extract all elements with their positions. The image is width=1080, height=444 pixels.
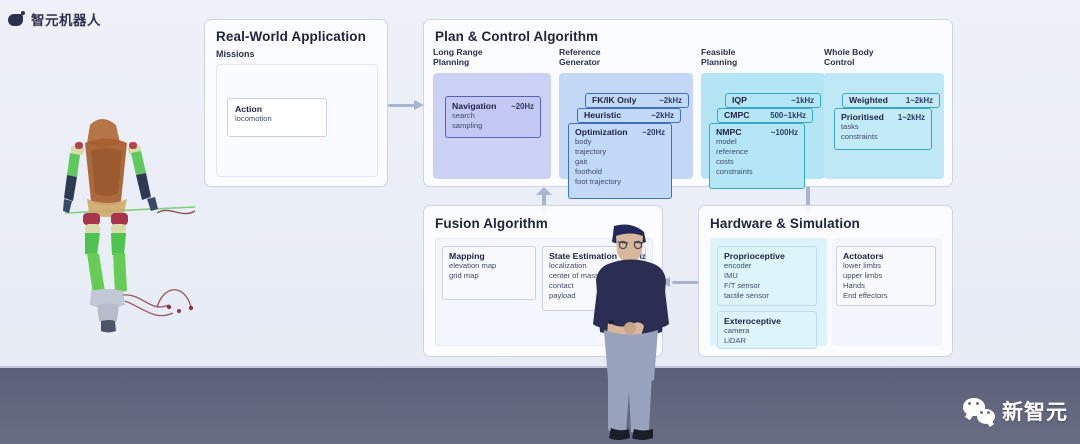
card-fk-ik-only-hz: ~2kHz bbox=[659, 96, 682, 105]
card-exteroceptive-item-0: camera bbox=[724, 326, 810, 336]
card-cmpc-name: CMPC bbox=[724, 110, 750, 120]
card-optimization-item-1: trajectory bbox=[575, 147, 665, 157]
card-heuristic-name: Heuristic bbox=[584, 110, 621, 120]
card-heuristic-hz: ~2kHz bbox=[651, 111, 674, 120]
card-optimization-item-2: gait bbox=[575, 157, 665, 167]
card-proprioceptive[interactable]: Proprioceptive encoder IMU F/T sensor ta… bbox=[717, 246, 817, 306]
panel-title-real-world-application: Real-World Application bbox=[216, 29, 366, 44]
card-optimization-item-0: body bbox=[575, 137, 665, 147]
column-label-reference-generator: Reference Generator bbox=[559, 47, 695, 67]
column-feasible-planning: Feasible Planning IQP ~1kHz CMPC 500~1kH… bbox=[701, 47, 827, 67]
card-weighted[interactable]: Weighted 1~2kHz bbox=[842, 93, 940, 108]
card-actoators-item-2: Hands bbox=[843, 281, 929, 291]
card-actoators-item-0: lower limbs bbox=[843, 261, 929, 271]
card-weighted-hz: 1~2kHz bbox=[906, 96, 933, 105]
card-prioritised-item-1: constraints bbox=[841, 132, 925, 142]
card-exteroceptive-item-1: LiDAR bbox=[724, 336, 810, 346]
card-proprioceptive-item-0: encoder bbox=[724, 261, 810, 271]
card-heuristic[interactable]: Heuristic ~2kHz bbox=[577, 108, 681, 123]
card-iqp[interactable]: IQP ~1kHz bbox=[725, 93, 821, 108]
card-proprioceptive-item-3: tactile sensor bbox=[724, 291, 810, 301]
panel-real-world-application: Real-World Application Missions Action l… bbox=[204, 19, 388, 187]
card-nmpc-item-2: costs bbox=[716, 157, 798, 167]
card-actoators-name: Actoators bbox=[843, 251, 884, 261]
card-cmpc-hz: 500~1kHz bbox=[770, 111, 806, 120]
card-prioritised[interactable]: Prioritised 1~2kHz tasks constraints bbox=[834, 108, 932, 150]
card-optimization-name: Optimization bbox=[575, 127, 628, 137]
card-action[interactable]: Action locomotion bbox=[227, 98, 327, 137]
card-proprioceptive-item-1: IMU bbox=[724, 271, 810, 281]
card-mapping-item-1: grid map bbox=[449, 271, 529, 281]
column-label-feasible-planning: Feasible Planning bbox=[701, 47, 827, 67]
card-action-item: locomotion bbox=[235, 114, 319, 124]
card-nmpc-item-3: constraints bbox=[716, 167, 798, 177]
card-mapping[interactable]: Mapping elevation map grid map bbox=[442, 246, 536, 300]
card-proprioceptive-name: Proprioceptive bbox=[724, 251, 785, 261]
card-navigation-hz: ~20Hz bbox=[511, 102, 534, 111]
card-nmpc-item-1: reference bbox=[716, 147, 798, 157]
panel-title-plan-and-control-algorithm: Plan & Control Algorithm bbox=[435, 29, 598, 44]
card-fk-ik-only-name: FK/IK Only bbox=[592, 95, 636, 105]
sub-label-missions: Missions bbox=[216, 49, 255, 60]
panel-title-fusion-algorithm: Fusion Algorithm bbox=[435, 216, 548, 231]
column-long-range-planning: Long Range Planning Navigation ~20Hz sea… bbox=[433, 47, 553, 67]
card-proprioceptive-item-2: F/T sensor bbox=[724, 281, 810, 291]
card-optimization-hz: ~20Hz bbox=[642, 128, 665, 137]
card-action-name: Action bbox=[235, 104, 262, 114]
card-nmpc-item-0: model bbox=[716, 137, 798, 147]
card-optimization-item-3: foothold bbox=[575, 167, 665, 177]
card-nmpc[interactable]: NMPC ~100Hz model reference costs constr… bbox=[709, 123, 805, 189]
card-navigation-item-1: sampling bbox=[452, 121, 534, 131]
card-fk-ik-only[interactable]: FK/IK Only ~2kHz bbox=[585, 93, 689, 108]
column-reference-generator: Reference Generator FK/IK Only ~2kHz Heu… bbox=[559, 47, 695, 67]
card-prioritised-hz: 1~2kHz bbox=[898, 113, 925, 122]
card-nmpc-hz: ~100Hz bbox=[771, 128, 798, 137]
stage-floor bbox=[0, 368, 1080, 444]
card-iqp-hz: ~1kHz bbox=[791, 96, 814, 105]
card-exteroceptive-name: Exteroceptive bbox=[724, 316, 781, 326]
card-weighted-name: Weighted bbox=[849, 95, 888, 105]
card-optimization[interactable]: Optimization ~20Hz body trajectory gait … bbox=[568, 123, 672, 199]
watermark-text: 新智元 bbox=[1002, 396, 1068, 426]
wechat-icon bbox=[963, 398, 995, 424]
card-navigation[interactable]: Navigation ~20Hz search sampling bbox=[445, 96, 541, 138]
card-exteroceptive[interactable]: Exteroceptive camera LiDAR bbox=[717, 311, 817, 349]
card-optimization-item-4: foot trajectory bbox=[575, 177, 665, 187]
panel-hardware-and-simulation: Hardware & Simulation Proprioceptive enc… bbox=[698, 205, 953, 357]
card-actoators-item-1: upper limbs bbox=[843, 271, 929, 281]
card-navigation-name: Navigation bbox=[452, 101, 496, 111]
column-whole-body-control: Whole Body Control Weighted 1~2kHz Prior… bbox=[824, 47, 946, 67]
column-label-long-range-planning: Long Range Planning bbox=[433, 47, 553, 67]
presentation-slide: Real-World Application Missions Action l… bbox=[0, 0, 1000, 370]
arrow-application-to-plan bbox=[388, 95, 426, 115]
card-actoators-item-3: End effectors bbox=[843, 291, 929, 301]
column-label-whole-body-control: Whole Body Control bbox=[824, 47, 946, 67]
card-cmpc[interactable]: CMPC 500~1kHz bbox=[717, 108, 813, 123]
card-nmpc-name: NMPC bbox=[716, 127, 742, 137]
card-iqp-name: IQP bbox=[732, 95, 747, 105]
channel-watermark: 新智元 bbox=[963, 396, 1068, 426]
presenter-person bbox=[578, 224, 684, 444]
card-mapping-item-0: elevation map bbox=[449, 261, 529, 271]
card-mapping-name: Mapping bbox=[449, 251, 485, 261]
card-navigation-item-0: search bbox=[452, 111, 534, 121]
panel-plan-and-control-algorithm: Plan & Control Algorithm Long Range Plan… bbox=[423, 19, 953, 187]
card-prioritised-name: Prioritised bbox=[841, 112, 884, 122]
card-prioritised-item-0: tasks bbox=[841, 122, 925, 132]
card-actoators[interactable]: Actoators lower limbs upper limbs Hands … bbox=[836, 246, 936, 306]
panel-title-hardware-and-simulation: Hardware & Simulation bbox=[710, 216, 860, 231]
